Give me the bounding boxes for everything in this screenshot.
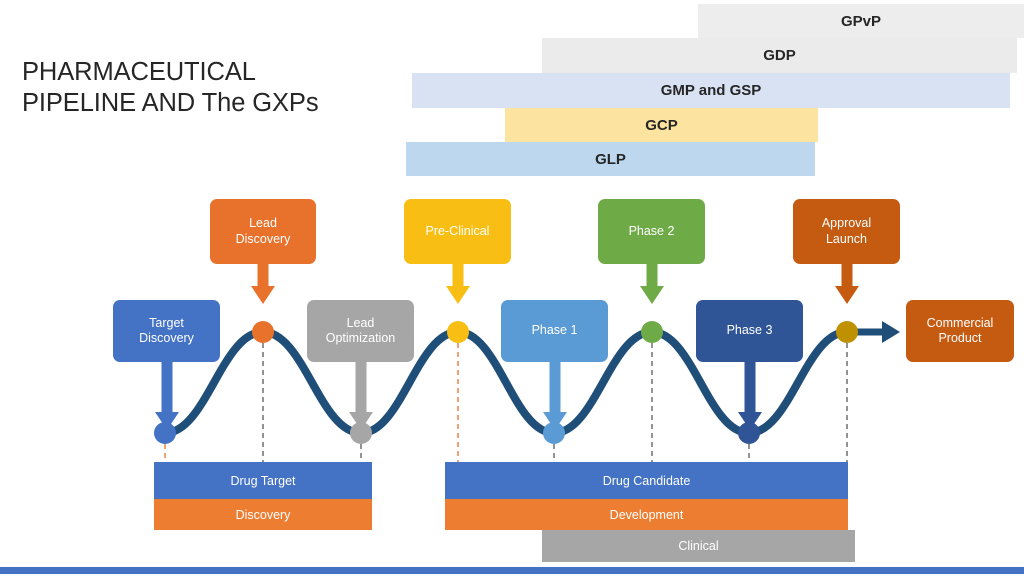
callout-phase-2[interactable]: Phase 2 [598,199,705,264]
stage-box-label: Lead Optimization [326,316,395,347]
callout-label: Phase 2 [629,224,675,240]
stage-box-phase-1[interactable]: Phase 1 [501,300,608,362]
stage-box-label: Phase 3 [727,323,773,339]
product-arrow-head-icon [882,321,900,343]
stage-box-label: Target Discovery [139,316,194,347]
phase-bar-discovery: Discovery [154,499,372,530]
stage-box-target-discovery[interactable]: Target Discovery [113,300,220,362]
gxp-bar-gdp: GDP [542,38,1017,73]
phase-bar-label: Drug Candidate [603,474,691,488]
milestone-dot-phase-1[interactable] [543,422,565,444]
callout-label: Pre-Clinical [426,224,490,240]
milestone-dot-lead-optimization[interactable] [350,422,372,444]
gxp-bar-gpvp: GPvP [698,4,1024,38]
commercial-product-box[interactable]: Commercial Product [906,300,1014,362]
callout-label: Approval Launch [822,216,871,247]
phase-bar-drug-candidate: Drug Candidate [445,462,848,499]
gxp-bar-label: GLP [595,151,626,168]
gxp-bar-label: GPvP [841,13,881,30]
commercial-product-label: Commercial Product [927,316,994,347]
phase-bar-label: Drug Target [230,474,295,488]
gxp-bar-label: GCP [645,117,678,134]
milestone-dot-target-discovery[interactable] [154,422,176,444]
callout-label: Lead Discovery [236,216,291,247]
callout-approval-launch[interactable]: Approval Launch [793,199,900,264]
gxp-bar-label: GDP [763,47,796,64]
stage-box-phase-3[interactable]: Phase 3 [696,300,803,362]
callout-pre-clinical[interactable]: Pre-Clinical [404,199,511,264]
gxp-bar-gcp: GCP [505,108,818,142]
phase-bar-label: Discovery [236,508,291,522]
milestone-dot-phase-3[interactable] [738,422,760,444]
phase-bar-label: Clinical [678,539,718,553]
milestone-dot-pre-clinical[interactable] [447,321,469,343]
stage-box-lead-optimization[interactable]: Lead Optimization [307,300,414,362]
stage-box-label: Phase 1 [532,323,578,339]
milestone-dot-phase-2[interactable] [641,321,663,343]
milestone-dot-lead-discovery[interactable] [252,321,274,343]
bottom-accent-strip [0,567,1024,574]
page-title: PHARMACEUTICAL PIPELINE AND The GXPs [22,57,402,119]
gxp-bar-label: GMP and GSP [661,82,762,99]
gxp-bar-gmp-and-gsp: GMP and GSP [412,73,1010,108]
phase-bar-clinical: Clinical [542,530,855,562]
gxp-bar-glp: GLP [406,142,815,176]
phase-bar-development: Development [445,499,848,530]
slide-canvas: PHARMACEUTICAL PIPELINE AND The GXPs GPv… [0,0,1024,576]
phase-bar-drug-target: Drug Target [154,462,372,499]
phase-bar-label: Development [610,508,684,522]
callout-lead-discovery[interactable]: Lead Discovery [210,199,316,264]
milestone-dot-approval-launch[interactable] [836,321,858,343]
